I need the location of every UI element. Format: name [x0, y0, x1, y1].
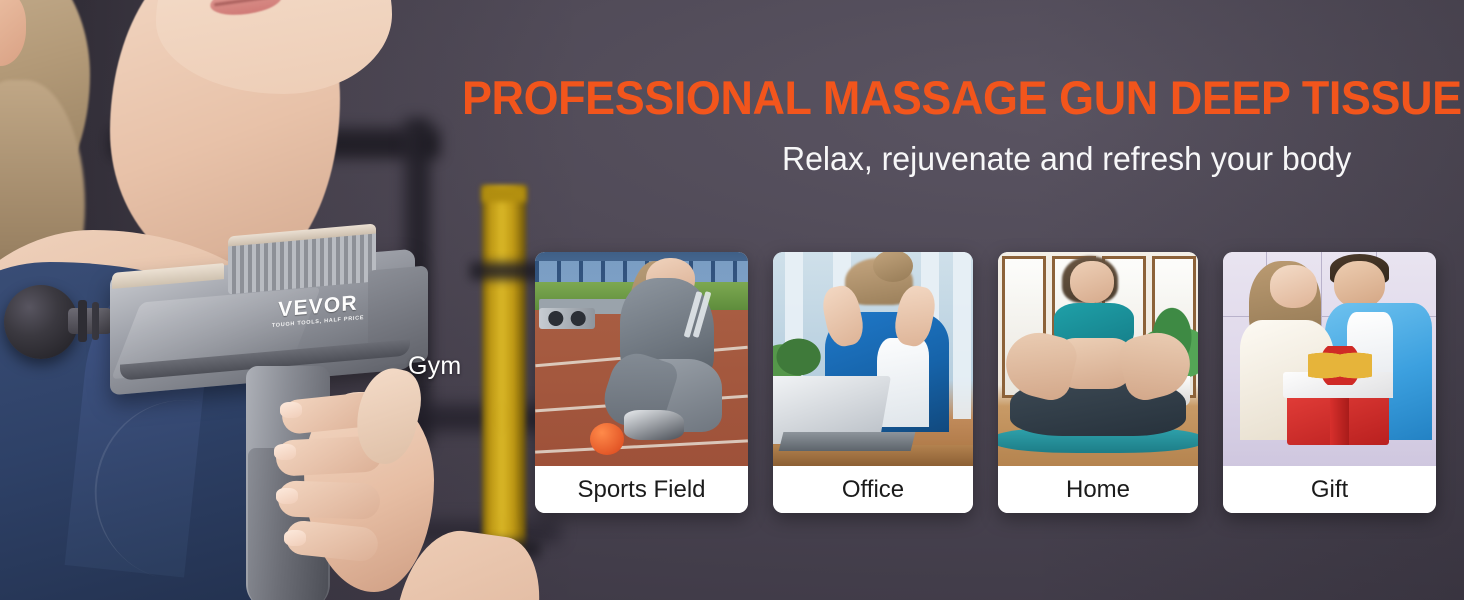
- massage-gun-ball-attachment: [4, 285, 78, 359]
- gift-man-head: [1334, 261, 1385, 308]
- orange-kettlebell: [590, 423, 624, 455]
- model-fingernail-little: [284, 530, 306, 546]
- scenario-label: Sports Field: [535, 466, 748, 513]
- scenario-card-sports-field[interactable]: Sports Field: [535, 252, 748, 513]
- scenario-label: Gift: [1223, 466, 1436, 513]
- scene-label-gym: Gym: [408, 352, 461, 381]
- scenario-card-home[interactable]: Home: [998, 252, 1198, 513]
- scenario-image-home: [998, 252, 1198, 466]
- attachment-stem: [68, 308, 112, 334]
- attachment-collar: [78, 300, 87, 342]
- office-window-blind-4: [953, 252, 971, 419]
- scenario-card-office[interactable]: Office: [773, 252, 973, 513]
- page-subtitle: Relax, rejuvenate and refresh your body: [782, 140, 1422, 178]
- scenario-image-sports-field: [535, 252, 748, 466]
- athlete-shoe: [624, 410, 684, 440]
- model-hand-gripping-device: [262, 352, 434, 600]
- gift-bow: [1308, 346, 1372, 385]
- model-fingernail-ring: [276, 488, 298, 504]
- scenario-image-gift: [1223, 252, 1436, 466]
- gift-scene: [1223, 252, 1436, 466]
- track-weights: [539, 308, 594, 329]
- attachment-collar-secondary: [92, 302, 99, 340]
- home-yoga-scene: [998, 252, 1198, 466]
- scenario-card-gift[interactable]: Gift: [1223, 252, 1436, 513]
- scenario-card-list: Sports Field: [535, 252, 1436, 513]
- sports-field-scene: [535, 252, 748, 466]
- office-scene: [773, 252, 973, 466]
- yogi-head: [1070, 261, 1114, 304]
- scenario-label: Home: [998, 466, 1198, 513]
- gift-woman-head: [1270, 265, 1317, 308]
- scenario-image-office: [773, 252, 973, 466]
- office-laptop-keyboard: [779, 432, 916, 451]
- page-title: PROFESSIONAL MASSAGE GUN DEEP TISSUE: [462, 74, 1360, 121]
- track-lane-line-3: [535, 439, 748, 453]
- product-marketing-banner: VEVOR TOUGH TOOLS, HALF PRICE PROFESSION…: [0, 0, 1464, 600]
- scenario-label: Office: [773, 466, 973, 513]
- model-fingernail-middle: [274, 444, 296, 460]
- model-fingernail-index: [280, 402, 302, 418]
